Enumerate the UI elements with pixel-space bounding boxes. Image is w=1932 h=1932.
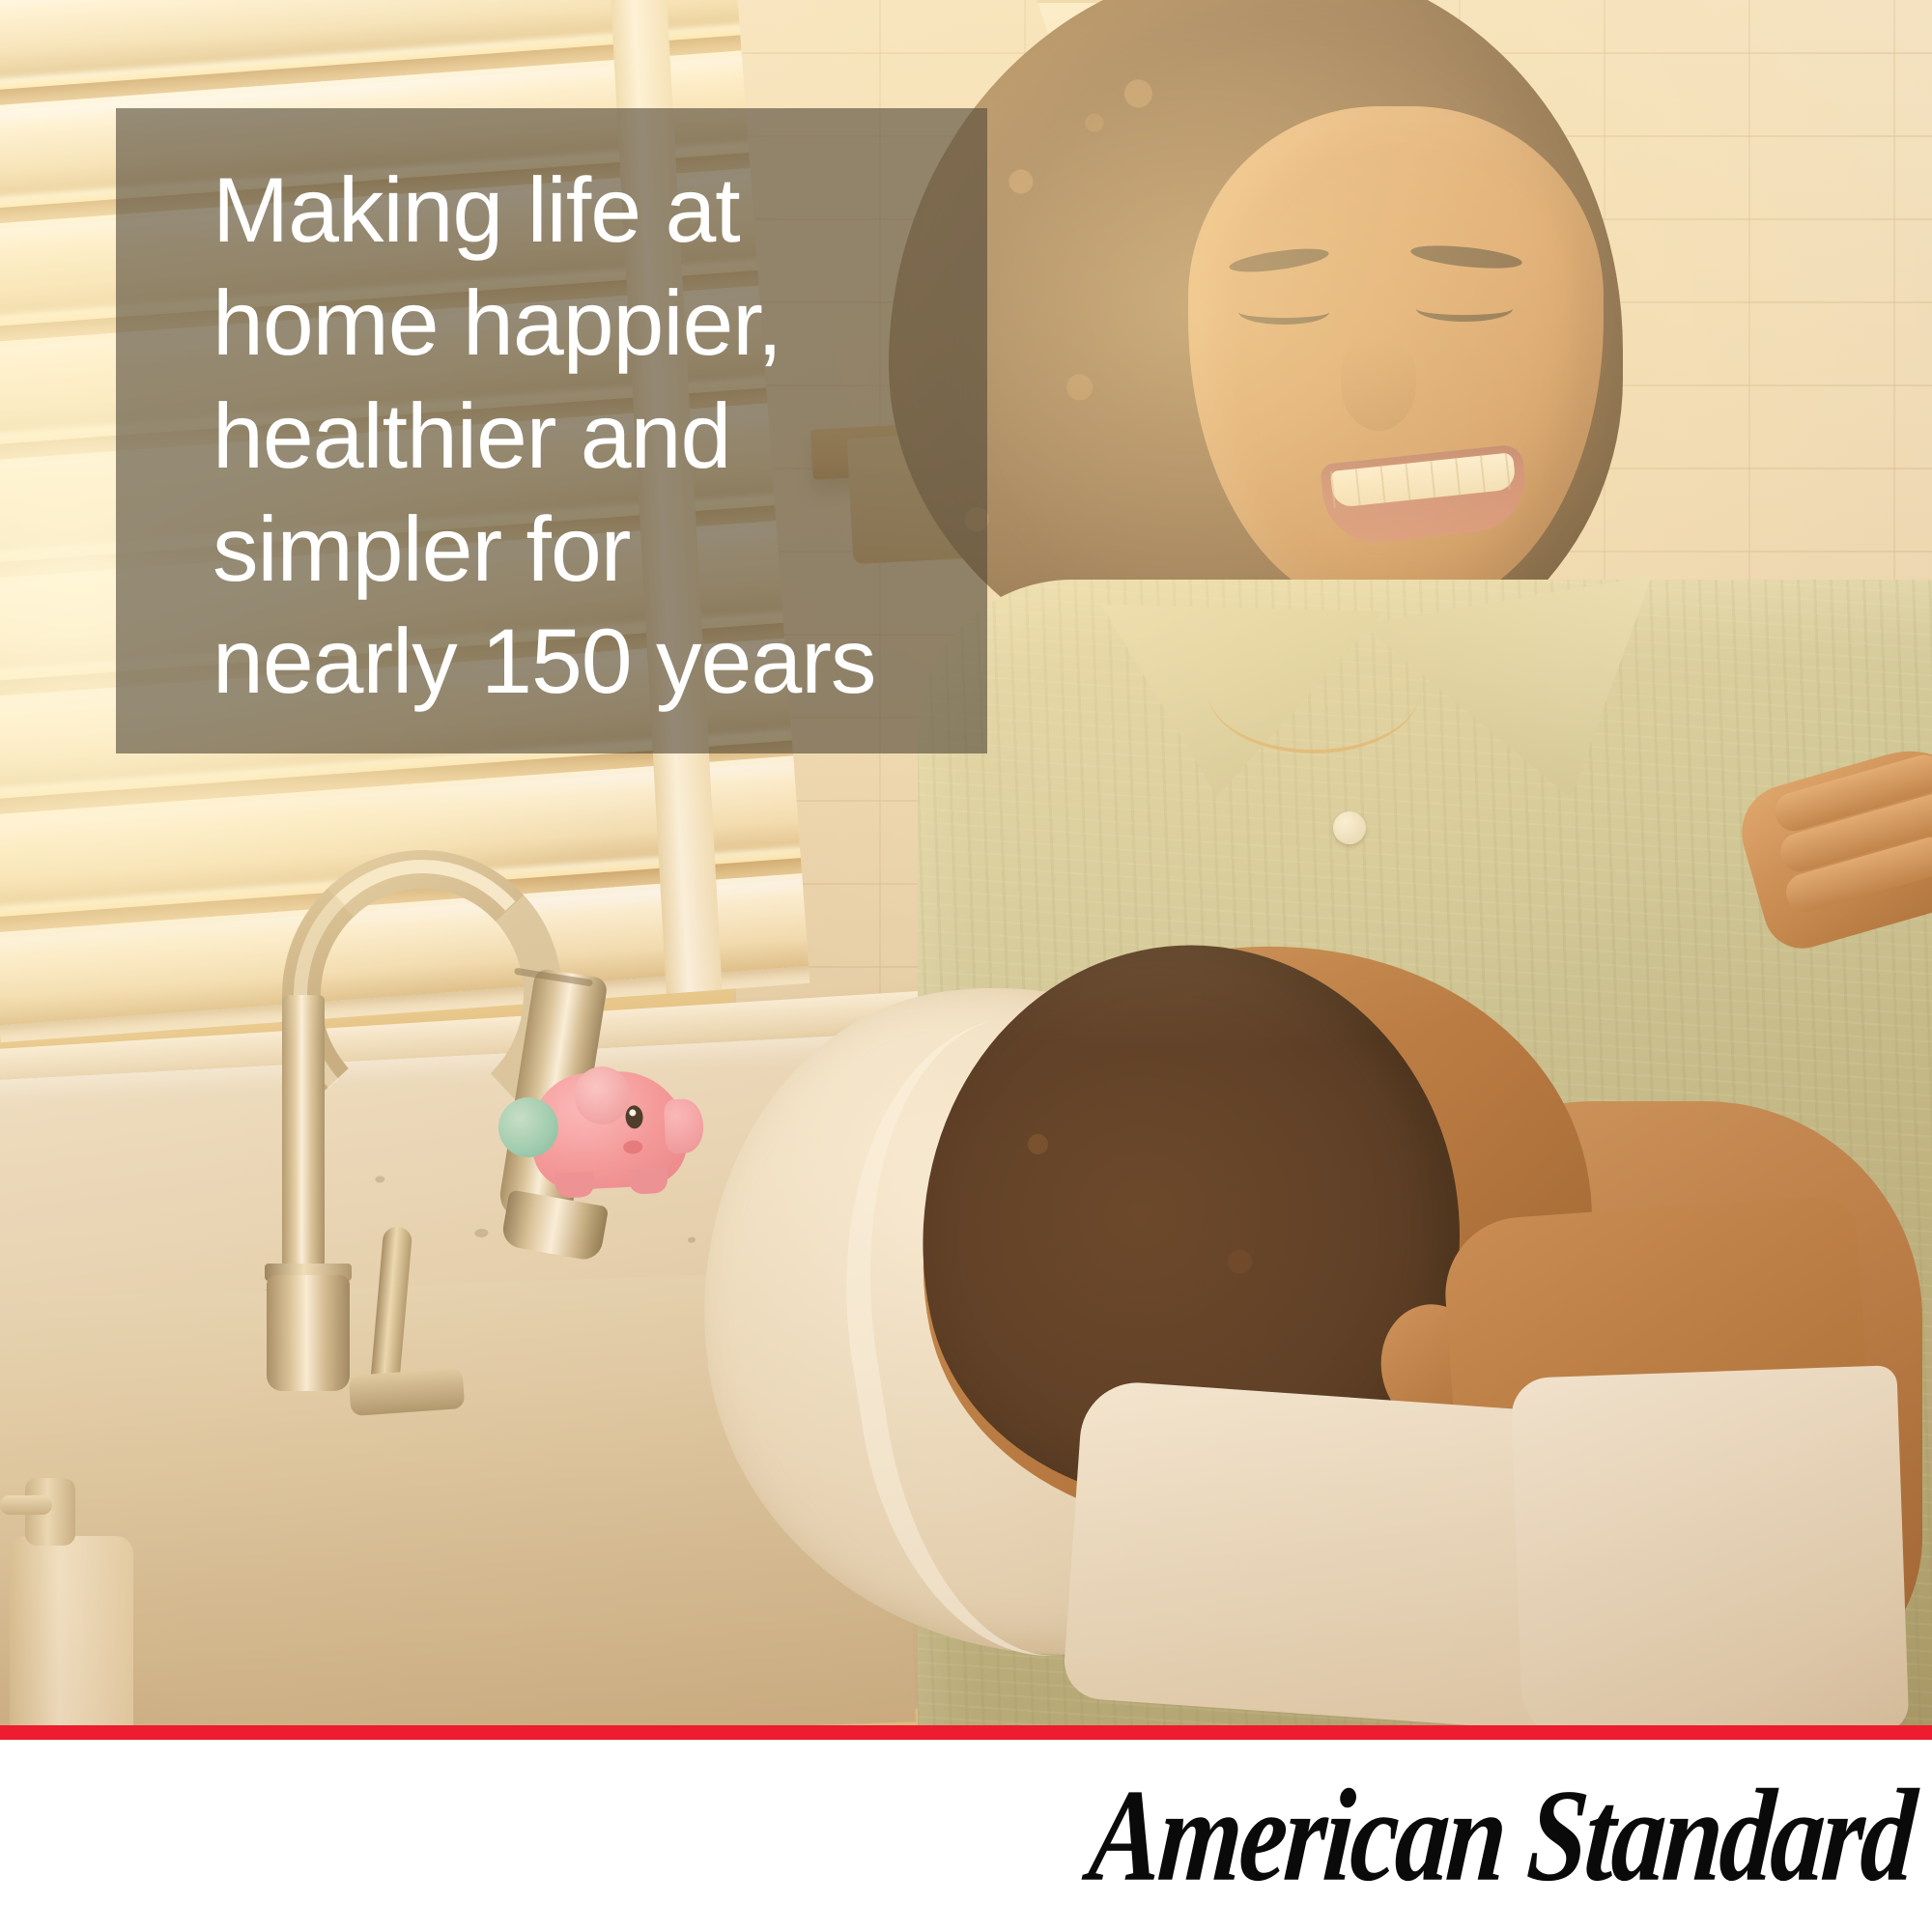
woman-eye-left bbox=[1238, 299, 1329, 325]
brand-accent-bar bbox=[0, 1725, 1932, 1740]
american-standard-logo: American Standard bbox=[1085, 1761, 1918, 1913]
hero-photo: Making life at home happier, healthier a… bbox=[0, 0, 1932, 1725]
ad-root: Making life at home happier, healthier a… bbox=[0, 0, 1932, 1932]
woman-eye-right bbox=[1416, 296, 1513, 322]
brand-footer: American Standard bbox=[0, 1740, 1932, 1932]
baby-figure bbox=[705, 985, 1864, 1725]
headline-overlay-box: Making life at home happier, healthier a… bbox=[116, 108, 987, 753]
soap-dispenser bbox=[0, 1478, 145, 1725]
necklace bbox=[1207, 628, 1420, 753]
headline-text: Making life at home happier, healthier a… bbox=[213, 155, 1005, 719]
pink-elephant-toy bbox=[498, 1048, 709, 1204]
